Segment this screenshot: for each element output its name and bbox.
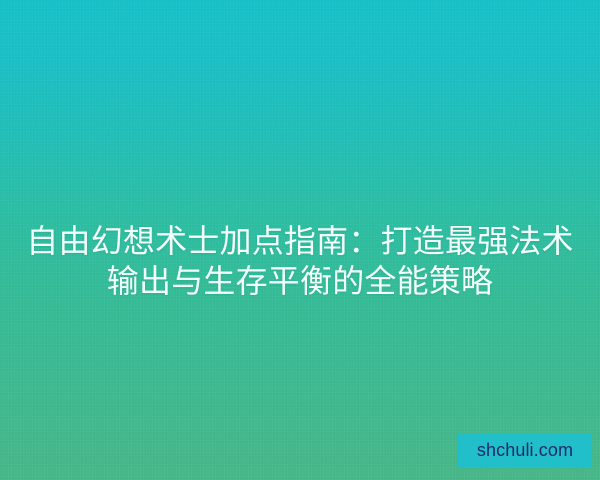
cover-headline: 自由幻想术士加点指南：打造最强法术输出与生存平衡的全能策略 [0, 221, 600, 301]
watermark-badge: shchuli.com [458, 433, 592, 467]
article-cover-banner: 自由幻想术士加点指南：打造最强法术输出与生存平衡的全能策略 shchuli.co… [0, 0, 600, 480]
watermark-site-label: shchuli.com [477, 441, 573, 459]
